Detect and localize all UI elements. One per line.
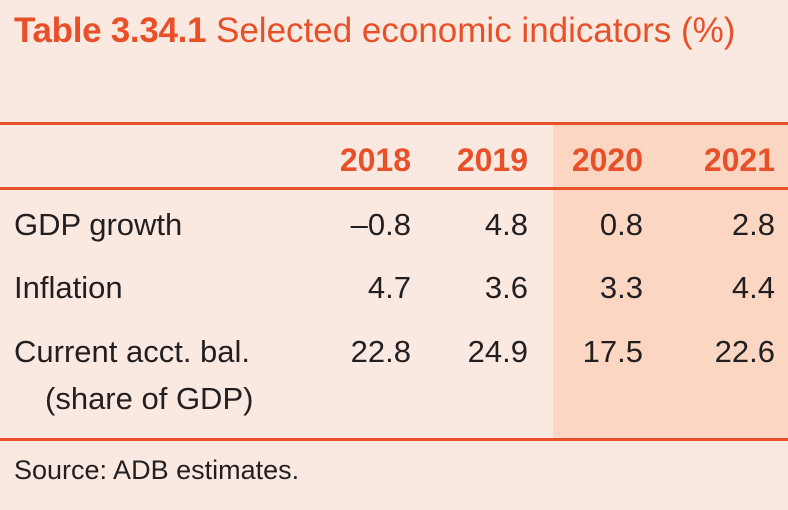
table-figure: Table 3.34.1 Selected economic indicator… <box>0 0 788 510</box>
row-label-current-acct-bal: Current acct. bal. <box>0 314 298 370</box>
cell-current-acct-bal-2018: 22.8 <box>298 314 414 370</box>
source-note: Source: ADB estimates. <box>14 455 299 486</box>
cell-gdp-growth-2019: 4.8 <box>414 187 531 243</box>
cell-current-acct-bal-2021: 22.6 <box>654 314 788 370</box>
figure-title-text: Selected economic indicators (%) <box>206 11 735 50</box>
cell-current-acct-bal-2019: 24.9 <box>414 314 531 370</box>
table-row: GDP growth –0.8 4.8 0.8 2.8 <box>0 187 788 250</box>
cell-gdp-growth-2018: –0.8 <box>298 187 414 243</box>
table-row: Current acct. bal. 22.8 24.9 17.5 22.6 <box>0 314 788 375</box>
figure-title: Table 3.34.1 Selected economic indicator… <box>14 8 788 53</box>
row-label-gdp-growth: GDP growth <box>0 187 298 243</box>
cell-gdp-growth-2021: 2.8 <box>654 187 788 243</box>
data-table: 2018 2019 2020 2021 GDP growth –0.8 4.8 … <box>0 122 788 375</box>
header-cell-2018: 2018 <box>298 122 414 179</box>
header-cell-2021: 2021 <box>654 122 788 179</box>
table-header-row: 2018 2019 2020 2021 <box>0 122 788 187</box>
row-label-inflation: Inflation <box>0 250 298 306</box>
row-sublabel-share-of-gdp: (share of GDP) <box>45 381 253 417</box>
rule-bottom <box>0 438 788 441</box>
cell-inflation-2021: 4.4 <box>654 250 788 306</box>
table-row: Inflation 4.7 3.6 3.3 4.4 <box>0 250 788 314</box>
cell-gdp-growth-2020: 0.8 <box>531 187 654 243</box>
figure-label: Table 3.34.1 <box>14 11 206 50</box>
header-cell-2020: 2020 <box>531 122 654 179</box>
header-cell-2019: 2019 <box>414 122 531 179</box>
header-cell-blank <box>0 151 298 171</box>
cell-inflation-2020: 3.3 <box>531 250 654 306</box>
cell-inflation-2018: 4.7 <box>298 250 414 306</box>
cell-current-acct-bal-2020: 17.5 <box>531 314 654 370</box>
cell-inflation-2019: 3.6 <box>414 250 531 306</box>
